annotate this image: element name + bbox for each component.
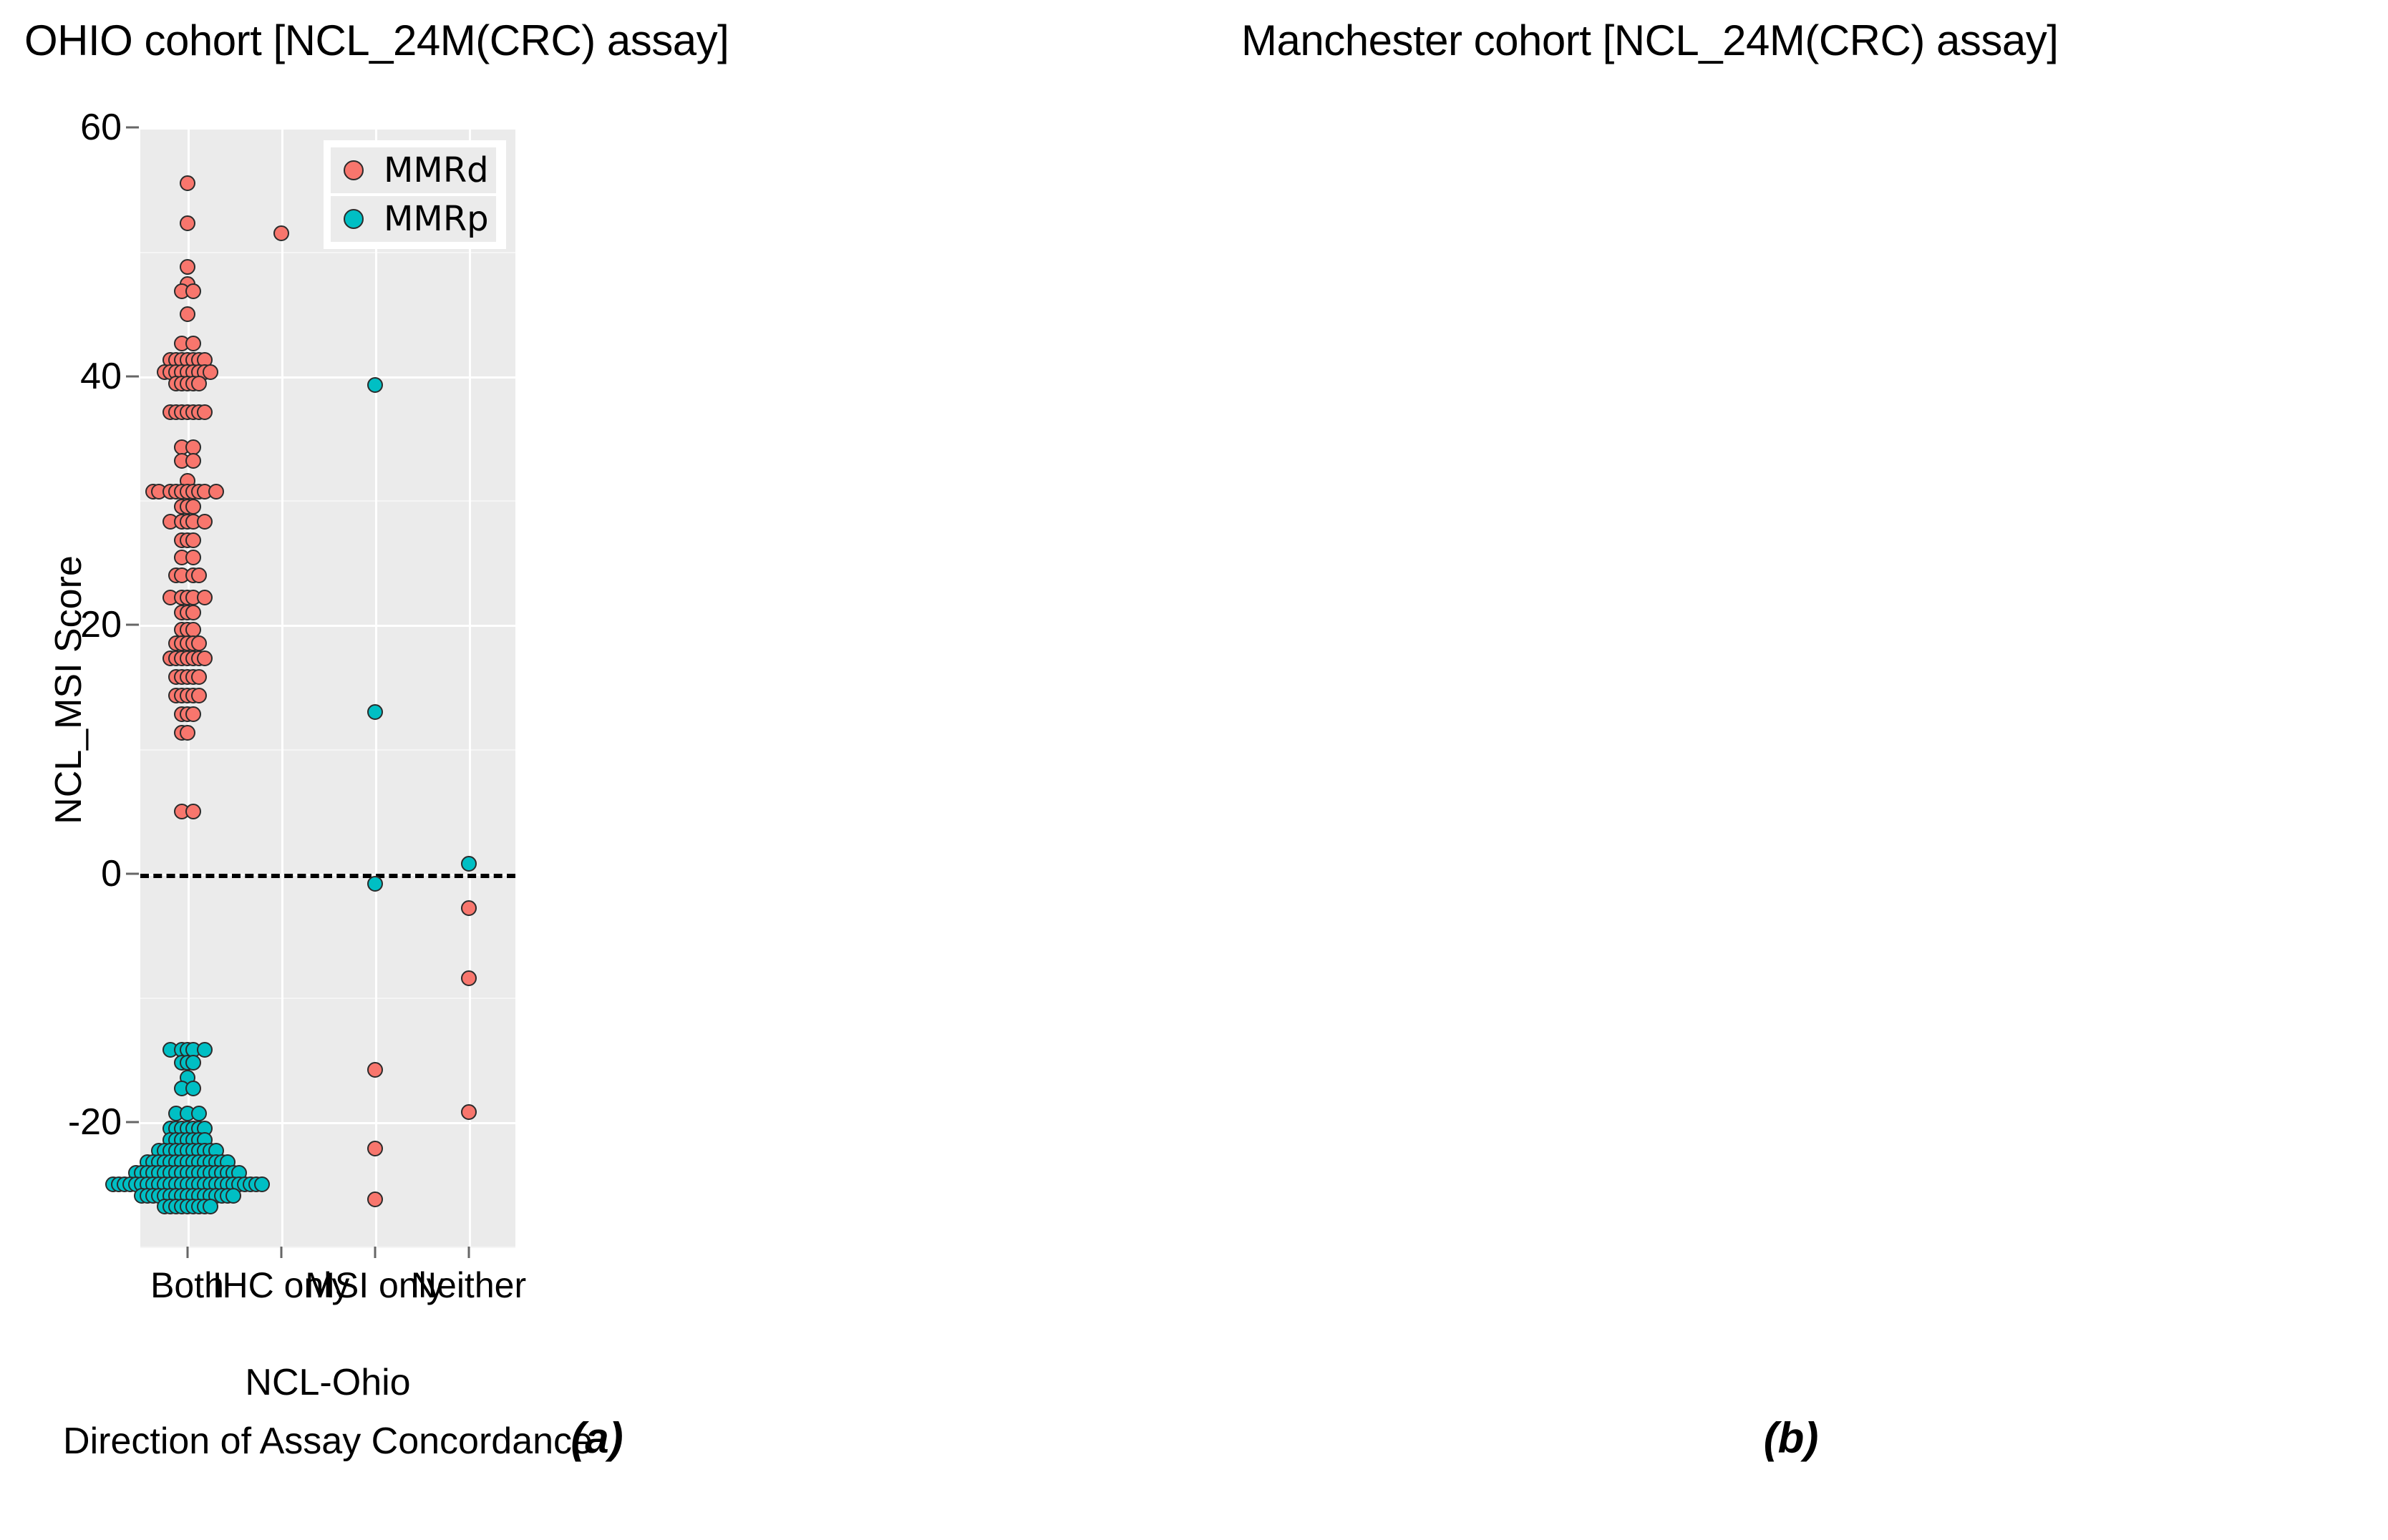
legend-item-mmrd[interactable]: MMRd — [331, 147, 496, 193]
data-point-mmrd — [208, 484, 224, 499]
data-point-mmrp — [461, 856, 477, 872]
data-point-mmrd — [367, 1141, 383, 1156]
data-point-mmrd — [180, 725, 195, 741]
data-point-mmrd — [367, 1062, 383, 1078]
category-gridline — [469, 127, 471, 1247]
x-tick-mark — [374, 1247, 376, 1258]
data-point-mmrp — [191, 1106, 207, 1121]
legend-swatch-mmrp-icon — [335, 200, 372, 238]
data-point-mmrd — [197, 514, 213, 530]
data-point-mmrp — [367, 704, 383, 720]
panel-b-sublabel: (b) — [1194, 1413, 2388, 1463]
data-point-mmrp — [254, 1176, 270, 1192]
data-point-mmrd — [191, 669, 207, 685]
data-point-mmrd — [185, 283, 201, 299]
panel-a-title: OHIO cohort [NCL_24M(CRC) assay] — [0, 16, 1194, 65]
data-point-mmrp — [225, 1188, 241, 1204]
category-gridline — [281, 127, 283, 1247]
data-point-mmrp — [197, 1042, 213, 1058]
data-point-mmrp — [367, 377, 383, 393]
panel-b-title: Manchester cohort [NCL_24M(CRC) assay] — [1194, 16, 2388, 65]
panel-a-sublabel: (a) — [0, 1413, 1194, 1463]
minor-gridline — [140, 998, 515, 999]
data-point-mmrd — [461, 900, 477, 916]
data-point-mmrd — [185, 499, 201, 515]
data-point-mmrp — [185, 1081, 201, 1096]
data-point-mmrd — [180, 306, 195, 322]
panel-a: OHIO cohort [NCL_24M(CRC) assay] 6040200… — [0, 0, 1194, 1540]
panel-a-legend: MMRdMMRp — [324, 140, 506, 249]
y-tick-mark — [126, 127, 139, 129]
major-gridline — [140, 127, 515, 130]
legend-dot-icon — [344, 209, 364, 229]
panel-a-x-axis-label-cohort: NCL-Ohio — [245, 1361, 410, 1404]
legend-label: MMRd — [384, 153, 489, 187]
data-point-mmrd — [180, 259, 195, 275]
legend-swatch-mmrd-icon — [335, 152, 372, 189]
panel-b: Manchester cohort [NCL_24M(CRC) assay] 4… — [1194, 0, 2388, 1540]
data-point-mmrd — [185, 336, 201, 351]
panel-a-plot-area — [140, 127, 515, 1247]
data-point-mmrd — [191, 567, 207, 583]
data-point-mmrd — [367, 1191, 383, 1207]
data-point-mmrd — [461, 970, 477, 986]
y-tick-mark — [126, 375, 139, 377]
y-tick-label: 60 — [47, 109, 122, 146]
data-point-mmrd — [191, 376, 207, 391]
y-tick-mark — [126, 1121, 139, 1124]
data-point-mmrp — [367, 876, 383, 892]
data-point-mmrd — [185, 532, 201, 548]
y-tick-label: 0 — [47, 855, 122, 892]
minor-gridline — [140, 1247, 515, 1248]
y-tick-mark — [126, 624, 139, 626]
minor-gridline — [140, 749, 515, 751]
data-point-mmrd — [185, 804, 201, 819]
minor-gridline — [140, 252, 515, 253]
data-point-mmrd — [197, 404, 213, 420]
data-point-mmrd — [197, 650, 213, 666]
data-point-mmrd — [191, 688, 207, 703]
legend-item-mmrp[interactable]: MMRp — [331, 196, 496, 242]
y-tick-label: -20 — [47, 1103, 122, 1141]
data-point-mmrd — [197, 590, 213, 605]
figure-root: OHIO cohort [NCL_24M(CRC) assay] 6040200… — [0, 0, 2388, 1540]
data-point-mmrd — [185, 605, 201, 620]
data-point-mmrp — [203, 1199, 218, 1214]
x-tick-mark — [186, 1247, 188, 1258]
data-point-mmrd — [191, 635, 207, 651]
data-point-mmrd — [180, 215, 195, 231]
category-gridline — [375, 127, 377, 1247]
data-point-mmrd — [180, 175, 195, 191]
legend-dot-icon — [344, 160, 364, 180]
x-tick-label-neither: Neither — [411, 1267, 526, 1304]
data-point-mmrd — [461, 1104, 477, 1120]
y-tick-label: 40 — [47, 358, 122, 395]
zero-reference-line — [140, 874, 515, 878]
data-point-mmrd — [185, 453, 201, 469]
x-tick-mark — [467, 1247, 470, 1258]
panel-a-y-axis-label: NCL_MSI Score — [47, 547, 90, 833]
data-point-mmrd — [273, 225, 289, 241]
data-point-mmrp — [185, 1055, 201, 1071]
data-point-mmrd — [185, 550, 201, 565]
legend-label: MMRp — [384, 202, 489, 236]
x-tick-mark — [280, 1247, 282, 1258]
y-tick-mark — [126, 872, 139, 874]
data-point-mmrd — [185, 706, 201, 722]
